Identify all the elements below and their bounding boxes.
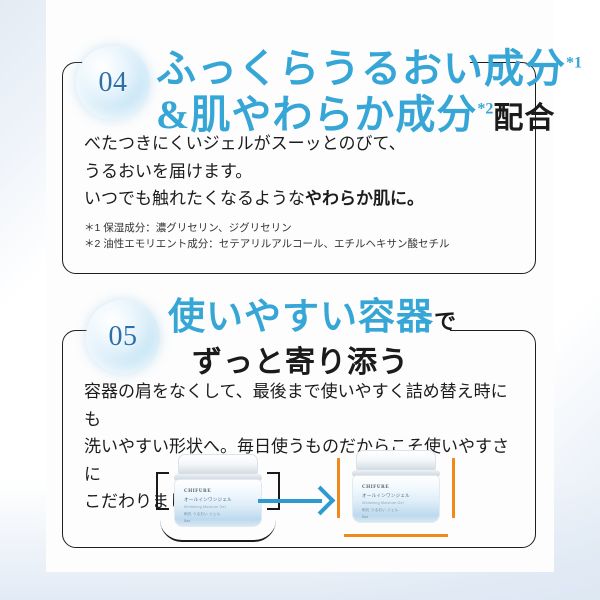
jar-before-name-jp: オールインワンジェル [184,497,232,503]
section-04-number: 04 [99,67,128,99]
section-05-heading-line1-text: 使いやすい容器 [168,297,434,338]
section-05-heading-line1: 使いやすい容器で [168,286,457,340]
arrow-head [306,486,336,516]
section-05-number: 05 [109,321,138,353]
jar-before-name-en: Whitening Moisture Gel [184,505,226,509]
product-before: CHIFURE オールインワンジェル Whitening Moisture Ge… [172,454,264,530]
product-comparison: CHIFURE オールインワンジェル Whitening Moisture Ge… [62,448,536,544]
section-04-body-line-2: うるおいを届けます。 [84,158,524,186]
section-04-body-emphasis: やわらか肌に。 [305,189,424,208]
section-04-footnotes: ＊1 保湿成分：濃グリセリン、ジグリセリン ＊2 油性エモリエント成分：セテアリ… [84,220,449,253]
bracket-left-icon [156,472,169,510]
section-05-body-line-1: 容器の肩をなくして、最後まで使いやすく詰め替え時にも [84,378,516,433]
jar-lid [356,450,436,472]
jar-after-name-en: Whitening Moisture Gel [362,501,404,505]
orange-marker-right-icon [452,458,455,518]
orange-marker-bottom-icon [344,534,448,537]
section-04-body-line-1: べたつきにくいジェルがスーッとのびて、 [84,130,524,158]
footnote-1: ＊1 保湿成分：濃グリセリン、ジグリセリン [84,220,449,236]
before-after-arrow-icon [258,488,336,512]
jar-after-illustration: CHIFURE オールインワンジェル Whitening Moisture Ge… [350,450,442,526]
section-04-body-line-3: いつでも触れたくなるようなやわらか肌に。 [84,185,524,213]
product-after: CHIFURE オールインワンジェル Whitening Moisture Ge… [350,450,442,526]
orange-marker-left-icon [337,458,340,518]
section-04-heading-line2-footnote-mark: *2 [477,101,493,118]
promo-page: 04 ふっくらうるおい成分*1 &肌やわらか成分*2配合 べたつきにくいジェルが… [0,0,600,600]
jar-after-brand: CHIFURE [362,485,389,490]
section-04-body-line-3-text: いつでも触れたくなるような [84,189,305,208]
footnote-2: ＊2 油性エモリエント成分：セテアリルアルコール、エチルヘキサン酸セチル [84,236,449,252]
section-04-number-bubble: 04 [76,46,150,120]
jar-before-volume-jp: 和光 うるおい ジェル [184,512,221,517]
jar-lid [178,454,258,476]
shoulder-curve-icon [160,520,276,542]
jar-body: CHIFURE オールインワンジェル Whitening Moisture Ge… [352,475,440,523]
section-05-heading-line2: ずっと寄り添う [192,337,409,381]
jar-before-illustration: CHIFURE オールインワンジェル Whitening Moisture Ge… [172,454,264,530]
jar-after-volume-jp: 和光 うるおい ジェル [362,508,399,513]
section-05-number-bubble: 05 [86,300,160,374]
jar-before-brand: CHIFURE [184,489,211,494]
jar-after-volume: 5oz [362,515,368,519]
section-04-heading-line1-footnote-mark: *1 [566,55,582,72]
jar-after-name-jp: オールインワンジェル [362,493,410,499]
section-04-body: べたつきにくいジェルがスーッとのびて、 うるおいを届けます。 いつでも触れたくな… [84,130,524,213]
section-05-heading-line1-tail: で [434,309,457,334]
